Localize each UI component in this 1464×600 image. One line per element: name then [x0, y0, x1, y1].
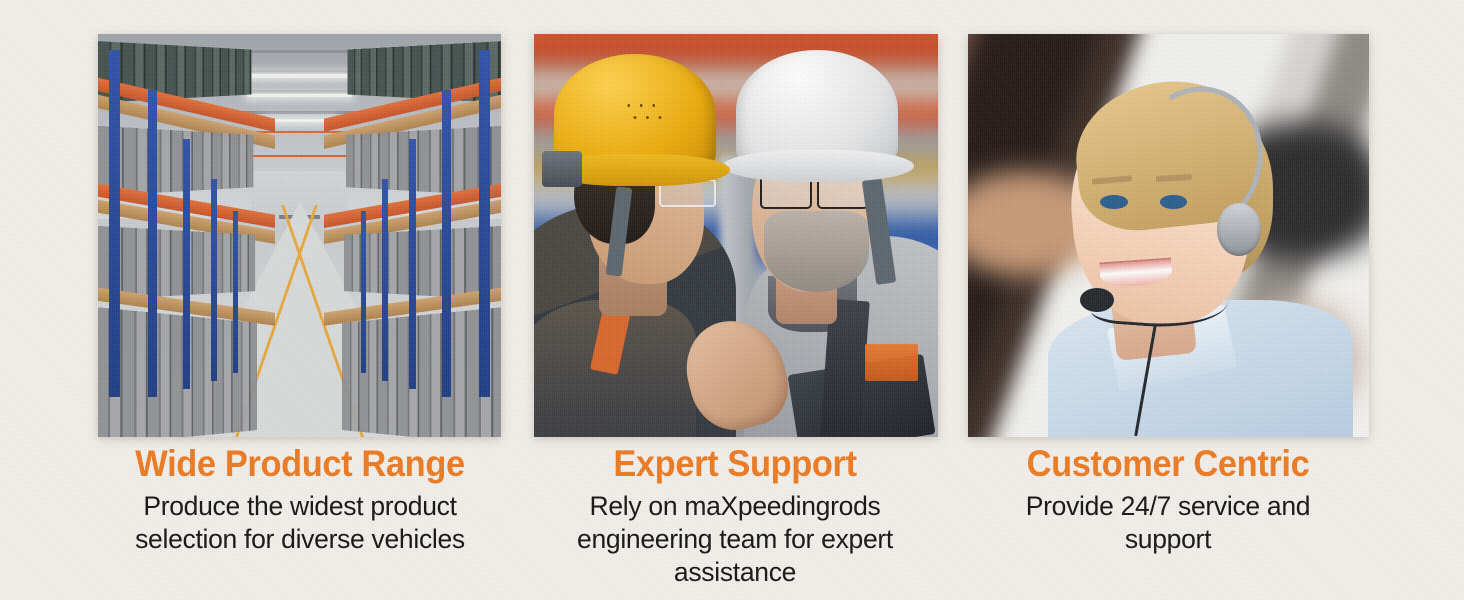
card-caption: Wide Product Range Produce the widest pr…: [82, 443, 518, 556]
engineers-discussion-photo: [534, 34, 938, 437]
card-title: Expert Support: [532, 443, 937, 484]
card-caption: Expert Support Rely on maXpeedingrods en…: [517, 443, 953, 589]
card-description: Produce the widest product selection for…: [100, 490, 500, 556]
card-title: Customer Centric: [965, 443, 1370, 484]
card-description: Rely on maXpeedingrods engineering team …: [535, 490, 935, 589]
feature-card-wide-product-range: Wide Product Range Produce the widest pr…: [82, 0, 518, 600]
card-title: Wide Product Range: [97, 443, 502, 484]
feature-card-list: Wide Product Range Produce the widest pr…: [0, 0, 1464, 600]
feature-card-expert-support: Expert Support Rely on maXpeedingrods en…: [517, 0, 953, 600]
warehouse-aisle-photo: [98, 34, 501, 437]
feature-banner: Wide Product Range Produce the widest pr…: [0, 0, 1464, 600]
card-caption: Customer Centric Provide 24/7 service an…: [950, 443, 1386, 556]
card-description: Provide 24/7 service and support: [998, 490, 1338, 556]
feature-card-customer-centric: Customer Centric Provide 24/7 service an…: [950, 0, 1386, 600]
support-agent-photo: [968, 34, 1369, 437]
